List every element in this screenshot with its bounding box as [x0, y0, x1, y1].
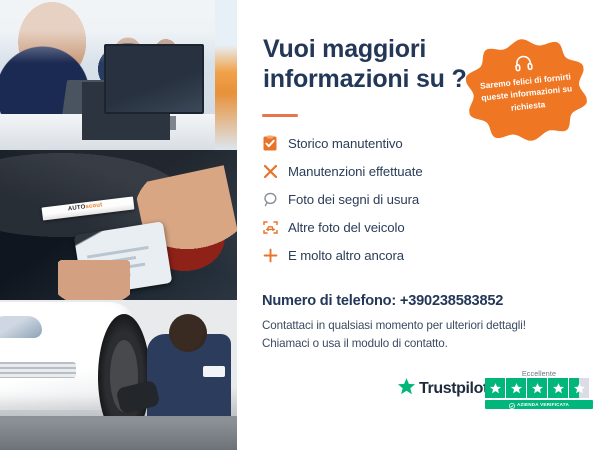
uniform-badge — [203, 366, 225, 377]
star-filled — [548, 378, 568, 398]
contact-subline-1: Contattaci in qualsiasi momento per ulte… — [262, 319, 526, 332]
hand-lower — [58, 260, 130, 300]
front-grill — [0, 362, 76, 378]
star-filled — [485, 378, 505, 398]
mechanic-head — [169, 314, 207, 352]
headlight — [0, 316, 42, 338]
star-filled — [527, 378, 547, 398]
feature-label: Foto dei segni di usura — [288, 192, 419, 207]
feature-item-foto-segni-usura[interactable]: Foto dei segni di usura — [262, 186, 562, 213]
background-strip — [215, 0, 237, 150]
feature-label: Storico manutentivo — [288, 136, 403, 151]
photo-column: AUTOscout — [0, 0, 237, 450]
measuring-strip: AUTOscout — [42, 196, 135, 220]
feature-item-altre-foto-veicolo[interactable]: Altre foto del veicolo — [262, 214, 562, 241]
feature-list: Storico manutentivo Manutenzioni effettu… — [262, 130, 562, 270]
vehicle-inspection-strip-tablet-photo: AUTOscout — [0, 150, 237, 300]
phone-number-line[interactable]: Numero di telefono: +390238583852 — [262, 293, 503, 309]
trustpilot-rating-label: Eccellente — [485, 369, 593, 378]
mechanic-wheel-inspection-photo — [0, 300, 237, 450]
car-scan-icon — [262, 219, 288, 236]
page-title: Vuoi maggiori informazioni su ? — [263, 34, 493, 94]
trustpilot-widget[interactable]: Trustpilot Eccellente AZIENDA VERIFICATA — [397, 369, 593, 417]
verified-check-icon — [509, 396, 515, 414]
plus-icon — [262, 247, 288, 264]
monitor-screen — [110, 50, 194, 100]
trustpilot-stars — [485, 378, 589, 398]
feature-label: Manutenzioni effettuate — [288, 164, 423, 179]
trustpilot-star-icon — [397, 377, 416, 401]
call-center-agents-headset-photo — [0, 0, 237, 150]
contact-subline-2: Chiamaci o usa il modulo di contatto. — [262, 337, 448, 350]
magnifier-icon — [262, 191, 288, 208]
desk-surface — [0, 114, 237, 150]
feature-label: Altre foto del veicolo — [288, 220, 405, 235]
content-panel: Vuoi maggiori informazioni su ? Saremo f… — [237, 0, 600, 450]
feature-item-molto-altro[interactable]: E molto altro ancora — [262, 242, 562, 269]
trustpilot-logo: Trustpilot — [397, 377, 488, 401]
clipboard-check-icon — [262, 135, 288, 152]
verified-label: AZIENDA VERIFICATA — [517, 402, 569, 407]
title-divider — [262, 114, 298, 117]
verified-business-badge: AZIENDA VERIFICATA — [485, 400, 593, 409]
trustpilot-wordmark: Trustpilot — [419, 380, 488, 398]
promo-card: AUTOscout Vuoi maggiori informazioni su … — [0, 0, 600, 450]
crossed-tools-icon — [262, 163, 288, 180]
feature-item-storico-manutentivo[interactable]: Storico manutentivo — [262, 130, 562, 157]
star-half — [569, 378, 589, 398]
feature-item-manutenzioni-effettuate[interactable]: Manutenzioni effettuate — [262, 158, 562, 185]
car-lift-platform — [0, 416, 237, 450]
feature-label: E molto altro ancora — [288, 248, 404, 263]
